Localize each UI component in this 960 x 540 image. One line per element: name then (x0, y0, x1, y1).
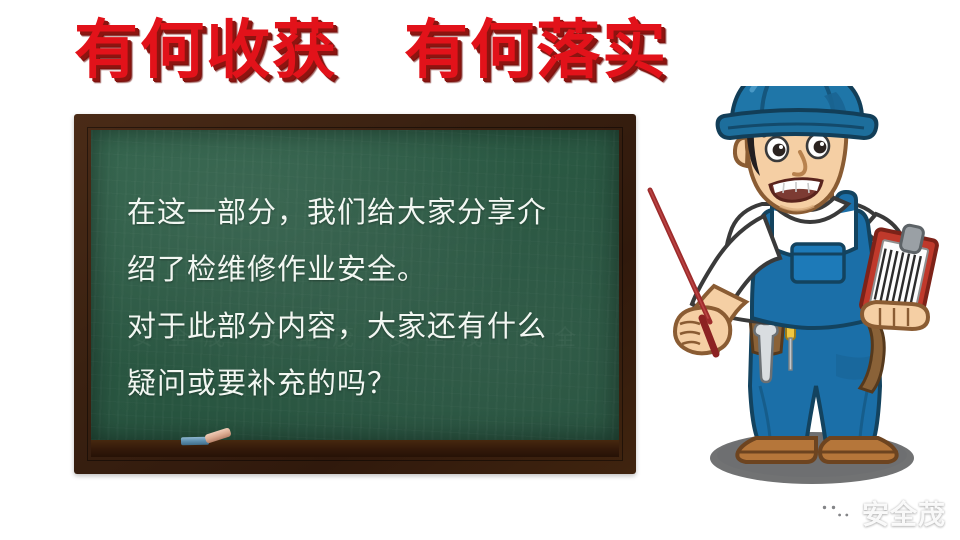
page-title: 有何收获 有何落实 (74, 8, 674, 94)
chalk-ledge (91, 440, 619, 457)
hard-hat (718, 86, 877, 138)
blackboard: 安全茂 安全茂 安全茂 安全茂 在这一部分，我们给大家分享介 绍了检维修作业安全… (74, 114, 636, 474)
wechat-icon (815, 498, 855, 528)
worker-illustration (640, 86, 960, 496)
eye-right (807, 134, 829, 158)
watermark: 安全茂 (815, 493, 946, 532)
watermark-label: 安全茂 (862, 493, 946, 532)
eye-left (766, 137, 788, 161)
blackboard-surface: 安全茂 安全茂 安全茂 安全茂 在这一部分，我们给大家分享介 绍了检维修作业安全… (91, 130, 619, 440)
slide-canvas: 有何收获 有何落实 安全茂 安全茂 安全茂 安全茂 在这一部分，我们给大家分享介… (0, 0, 960, 540)
fist (675, 307, 730, 353)
blackboard-text: 在这一部分，我们给大家分享介 绍了检维修作业安全。 对于此部分内容，大家还有什么… (127, 184, 597, 412)
chest-pocket (792, 244, 844, 282)
clipboard-hand (862, 302, 928, 329)
